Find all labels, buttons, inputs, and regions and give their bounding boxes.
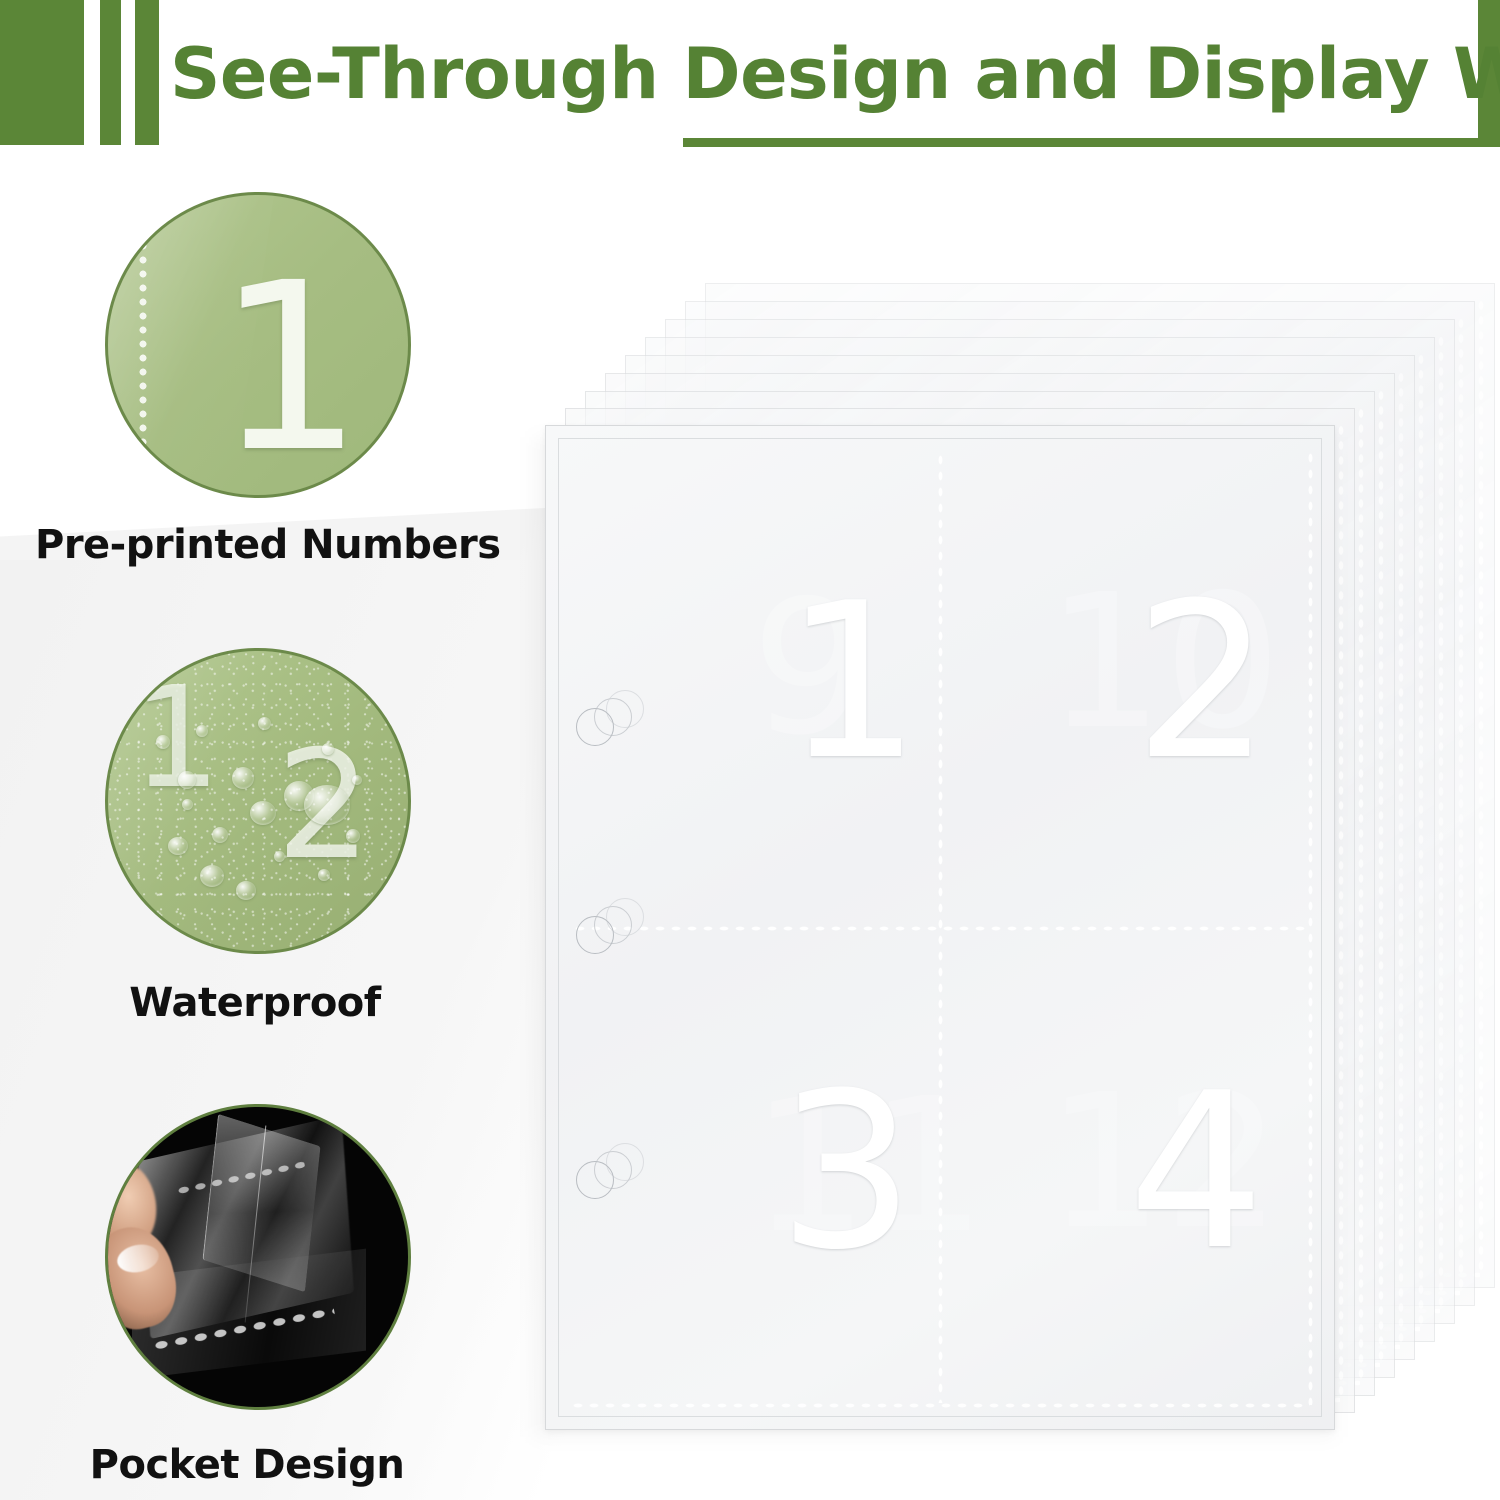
feature-label-pocket-design: Pocket Design: [27, 1442, 467, 1488]
header-accent-bar-narrow-1: [100, 0, 121, 145]
water-droplets: [108, 651, 408, 951]
pocket-number-3: 3: [778, 1064, 915, 1279]
number-one-circle-icon: 1: [105, 192, 411, 498]
header-accent-bar-wide: [0, 0, 84, 145]
plastic-sleeve-circle-icon: [105, 1104, 411, 1410]
front-sheet: 9 10 11 12 1 2 3 4: [545, 425, 1335, 1430]
pocket-number-2: 2: [1134, 574, 1271, 789]
header-accent-rule: [683, 138, 1500, 147]
bottom-edge-perforation: [570, 1402, 1310, 1409]
page-title: See-Through Design and Display Well: [170, 22, 1470, 127]
binder-hole-bottom: [576, 1151, 640, 1197]
binder-hole-middle: [576, 906, 640, 952]
water-droplets-circle-icon: 1 2: [105, 648, 411, 954]
perforation-dots: [138, 192, 148, 498]
binder-hole-top: [576, 698, 640, 744]
sleeve-flap: [202, 1114, 320, 1292]
feature-label-pre-printed-numbers: Pre-printed Numbers: [35, 522, 475, 568]
pocket-number-4: 4: [1128, 1064, 1265, 1279]
product-sheet-stack: 9 10 11 12 1 2 3 4: [520, 255, 1500, 1445]
infographic-canvas: See-Through Design and Display Well 1 Pr…: [0, 0, 1500, 1500]
horizontal-perforation-line: [572, 925, 1308, 932]
right-edge-perforation: [1307, 450, 1314, 1405]
pocket-number-1: 1: [784, 574, 921, 789]
printed-number-glyph: 1: [216, 233, 364, 498]
header-accent-bar-narrow-2: [135, 0, 159, 145]
feature-label-waterproof: Waterproof: [35, 980, 475, 1026]
